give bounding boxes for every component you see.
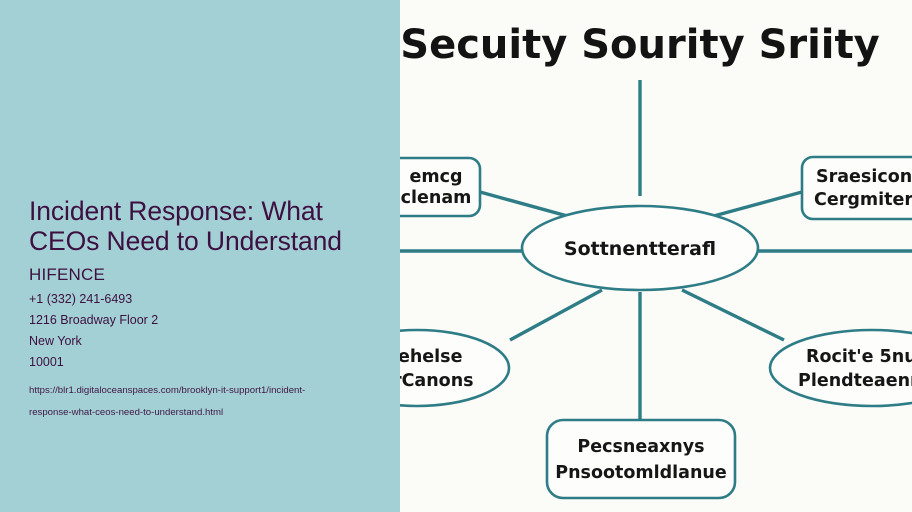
info-panel: Incident Response: What CEOs Need to Und… <box>0 0 400 512</box>
diagram-image-panel: Secuity Sourity Sriity emcg clenam Sraes… <box>400 0 912 512</box>
source-url-line2: response-what-ceos-need-to-understand.ht… <box>29 402 359 424</box>
page-title-line1: Incident Response: What <box>29 196 323 226</box>
brand-name: HIFENCE <box>29 264 400 285</box>
node-top-left: emcg clenam <box>400 158 480 216</box>
node-bottom-center-line1: Pecsneaxnys <box>577 437 704 457</box>
node-top-left-line1: emcg <box>409 167 462 187</box>
node-bottom-right-line1: Rocit'e 5nug <box>806 347 912 367</box>
node-top-right: Sraesicondi Cergmiterb <box>802 157 912 219</box>
node-center-label: Sottnentterafl <box>564 238 716 260</box>
city: New York <box>29 331 400 352</box>
node-bottom-center-fill <box>547 420 735 498</box>
node-bottom-left-line1: deehelse <box>400 347 463 367</box>
diagram-title: Secuity Sourity Sriity <box>400 22 879 68</box>
page-title: Incident Response: What CEOs Need to Und… <box>29 196 400 256</box>
page-title-line2: CEOs Need to Understand <box>29 226 342 256</box>
info-content: Incident Response: What CEOs Need to Und… <box>29 196 400 424</box>
source-url[interactable]: https://blr1.digitaloceanspaces.com/broo… <box>29 380 359 424</box>
node-bottom-center-line2: Pnsootomldlanue <box>555 463 727 483</box>
source-url-line1: https://blr1.digitaloceanspaces.com/broo… <box>29 380 359 402</box>
postal-code: 10001 <box>29 352 400 373</box>
node-center: Sottnentterafl <box>522 206 758 290</box>
mindmap-diagram: Secuity Sourity Sriity emcg clenam Sraes… <box>400 0 912 512</box>
node-top-right-line1: Sraesicondi <box>816 167 912 187</box>
node-bottom-right-line2: Plendteaenny <box>798 371 912 391</box>
phone-number: +1 (332) 241-6493 <box>29 289 400 310</box>
node-bottom-center: Pecsneaxnys Pnsootomldlanue <box>547 420 735 498</box>
node-bottom-left-line2: oe.rCanons <box>400 371 474 391</box>
node-top-right-line2: Cergmiterb <box>814 190 912 210</box>
screenshot-canvas: Secuity Sourity Sriity emcg clenam Sraes… <box>0 0 912 512</box>
node-top-left-line2: clenam <box>401 188 472 208</box>
street-address: 1216 Broadway Floor 2 <box>29 310 400 331</box>
